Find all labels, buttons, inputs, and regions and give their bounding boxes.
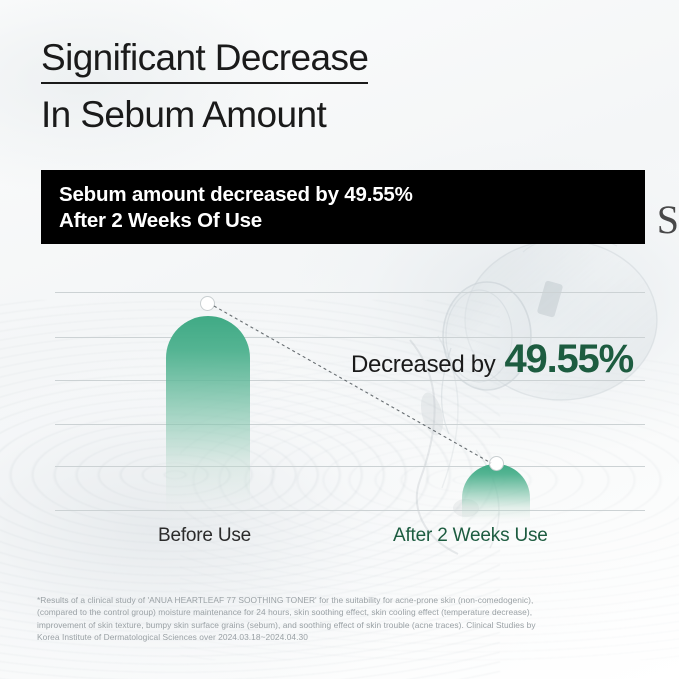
footnote-line-4: Korea Institute of Dermatological Scienc… bbox=[37, 631, 637, 643]
axis-label-before-use: Before Use bbox=[158, 525, 251, 547]
headline-line-2: In Sebum Amount bbox=[41, 93, 601, 137]
promo-infographic: S Significant Decrease In Sebum Amount S… bbox=[0, 0, 679, 679]
headline-line-1: Significant Decrease bbox=[41, 36, 368, 84]
edge-partial-glyph: S bbox=[657, 196, 679, 243]
axis-label-after-two-weeks: After 2 Weeks Use bbox=[393, 525, 548, 547]
decrease-callout: Decreased by 49.55% bbox=[351, 337, 633, 382]
decrease-callout-label: Decreased by bbox=[351, 351, 495, 379]
page-title: Significant Decrease In Sebum Amount bbox=[41, 36, 601, 137]
decrease-callout-value: 49.55% bbox=[504, 337, 632, 382]
footnote-line-2: (compared to the control group) moisture… bbox=[37, 606, 637, 618]
banner-line-2: After 2 Weeks Of Use bbox=[59, 208, 645, 234]
banner-line-1: Sebum amount decreased by 49.55% bbox=[59, 182, 645, 208]
footnote-line-1: *Results of a clinical study of 'ANUA HE… bbox=[37, 594, 637, 606]
footnote-disclaimer: *Results of a clinical study of 'ANUA HE… bbox=[37, 594, 637, 643]
result-banner: Sebum amount decreased by 49.55% After 2… bbox=[41, 170, 645, 244]
trend-connector-line bbox=[41, 276, 645, 526]
footnote-line-3: improvement of skin texture, bumpy skin … bbox=[37, 619, 637, 631]
sebum-bar-chart bbox=[41, 276, 645, 526]
